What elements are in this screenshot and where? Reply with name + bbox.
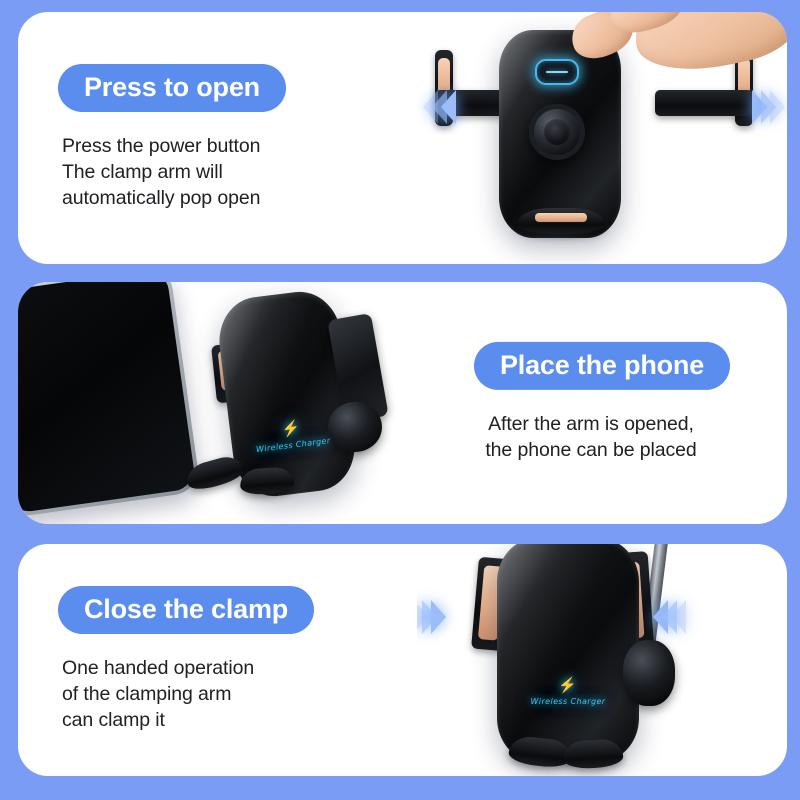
- smartphone: [18, 282, 201, 519]
- product-infographic: Press to open Press the power button The…: [0, 0, 800, 800]
- chevron-left-icon: [671, 600, 686, 634]
- step-2-product-photo: ⚡ Wireless Charger: [18, 282, 438, 524]
- chevron-right-icon: [770, 90, 785, 124]
- vent-mount-knob: [529, 104, 585, 160]
- step-3-pill-label[interactable]: Close the clamp: [58, 586, 314, 634]
- ball-joint: [328, 402, 382, 452]
- step-1-text-block: Press to open Press the power button The…: [40, 64, 390, 212]
- step-1-product-photo: [417, 12, 787, 264]
- step-3-text-block: Close the clamp One handed operation of …: [40, 586, 390, 734]
- chevron-right-icon: [431, 600, 446, 634]
- clamp-rail-right: [655, 90, 753, 116]
- step-card-close-the-clamp: Close the clamp One handed operation of …: [18, 544, 787, 776]
- arrows-open-right: [758, 90, 785, 124]
- step-3-description: One handed operation of the clamping arm…: [40, 656, 390, 734]
- wireless-charger-label: Wireless Charger: [497, 698, 639, 706]
- step-2-pill-label[interactable]: Place the phone: [474, 342, 730, 390]
- chevron-right-icon: [752, 90, 767, 124]
- ball-joint: [623, 640, 675, 706]
- charging-bolt-icon: ⚡: [497, 678, 639, 693]
- body-gloss: [497, 544, 639, 762]
- step-3-product-photo: ⚡ Wireless Charger: [417, 544, 787, 776]
- step-2-text-block: Place the phone After the arm is opened,…: [427, 342, 777, 464]
- power-button[interactable]: [535, 59, 579, 85]
- chevron-right-icon: [417, 600, 428, 634]
- phone-screen: [18, 282, 197, 514]
- cradle-pad: [535, 213, 587, 222]
- step-card-place-the-phone: ⚡ Wireless Charger Place the phone After…: [18, 282, 787, 524]
- chevron-left-icon: [662, 600, 677, 634]
- middle-finger: [605, 12, 687, 39]
- cradle-lip-right: [562, 738, 623, 769]
- arrows-close-left: [419, 600, 446, 634]
- step-card-press-to-open: Press to open Press the power button The…: [18, 12, 787, 264]
- step-1-pill-label[interactable]: Press to open: [58, 64, 286, 112]
- step-1-description: Press the power button The clamp arm wil…: [40, 134, 390, 212]
- cradle-lip: [517, 208, 605, 234]
- palm: [625, 12, 787, 83]
- wireless-charger-logo: ⚡ Wireless Charger: [497, 678, 639, 706]
- chevron-right-icon: [761, 90, 776, 124]
- step-2-description: After the arm is opened, the phone can b…: [427, 412, 777, 464]
- charger-body: ⚡ Wireless Charger: [497, 544, 639, 762]
- chevron-right-icon: [422, 600, 437, 634]
